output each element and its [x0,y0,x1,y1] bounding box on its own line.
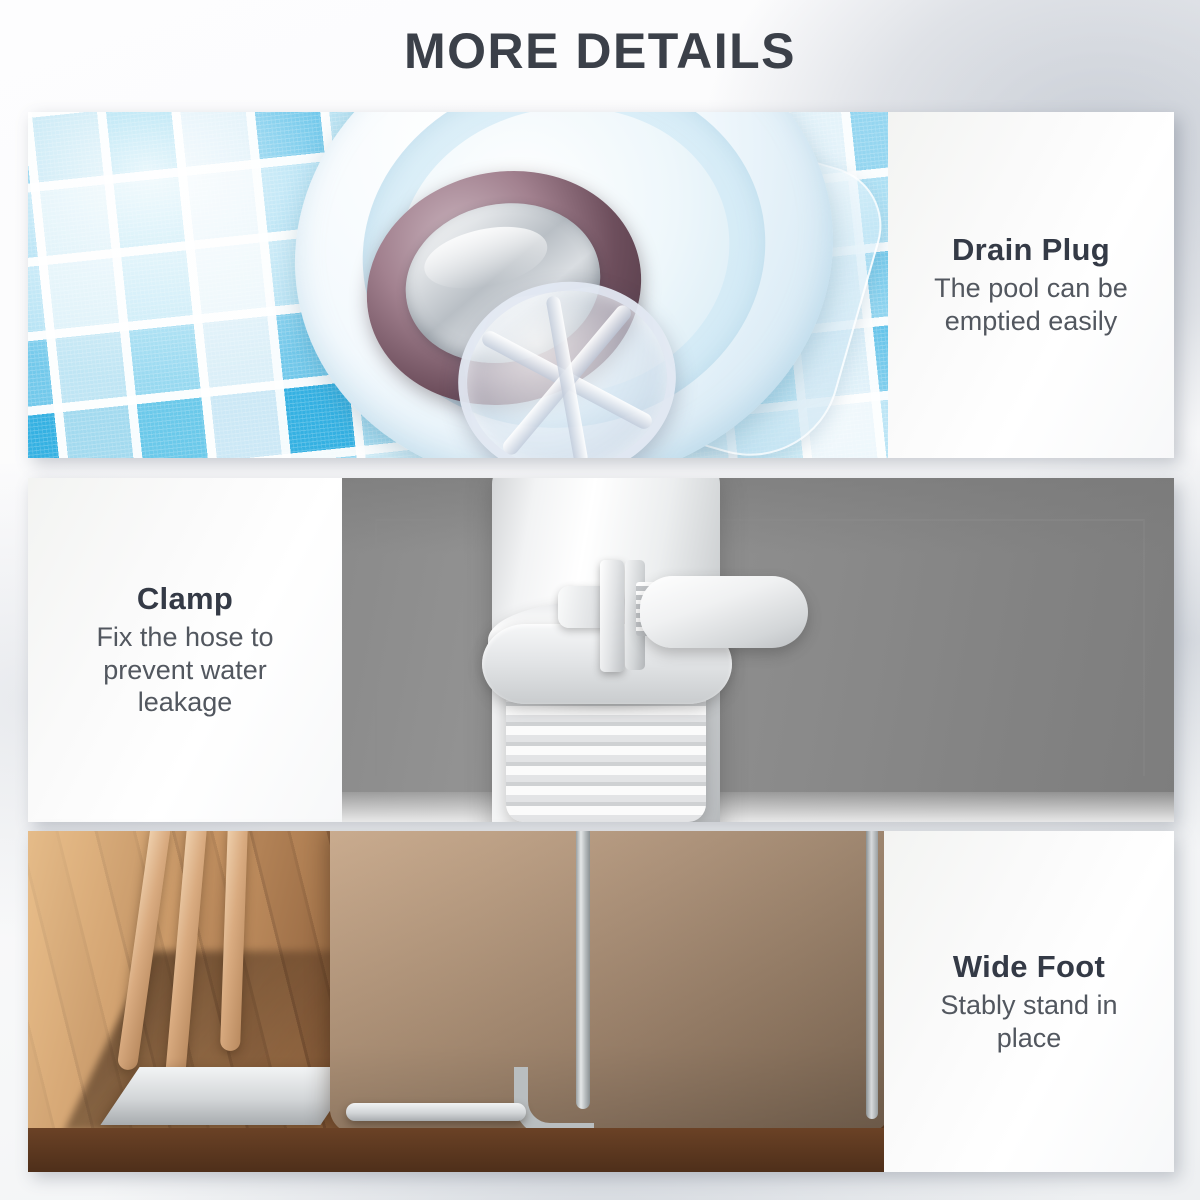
pool-wall [330,831,884,1133]
drain-plug-description: The pool can be emptied easily [901,272,1161,338]
clamp-post [600,560,624,672]
clamp-text-panel: Clamp Fix the hose to prevent water leak… [28,478,342,822]
detail-section-clamp: Clamp Fix the hose to prevent water leak… [28,478,1174,822]
wide-foot-heading: Wide Foot [953,949,1105,985]
deck-front-edge [28,1128,884,1172]
page-title: MORE DETAILS [0,22,1200,80]
wide-foot-photo [28,831,884,1172]
pool-frame-foot-bar [346,1103,526,1121]
clamp-heading: Clamp [137,581,233,617]
page-background: MORE DETAILS Dr [0,0,1200,1200]
drain-plug-text-panel: Drain Plug The pool can be emptied easil… [888,112,1174,458]
wide-foot-plate [100,1067,359,1125]
backdrop-floor-strip [342,792,1174,822]
wide-foot-text-panel: Wide Foot Stably stand in place [884,831,1174,1172]
detail-section-drain-plug: Drain Plug The pool can be emptied easil… [28,112,1174,458]
pool-frame-curve [514,1067,594,1137]
clamp-lever-handle [640,576,808,648]
wide-foot-description: Stably stand in place [907,989,1152,1055]
drain-plug-heading: Drain Plug [952,232,1110,268]
hose-clamp-photo [342,478,1174,822]
drain-plug-photo [28,112,888,458]
pool-frame-upright-right [866,831,878,1119]
detail-section-wide-foot: Wide Foot Stably stand in place [28,831,1174,1172]
clamp-description: Fix the hose to prevent water leakage [65,621,305,720]
